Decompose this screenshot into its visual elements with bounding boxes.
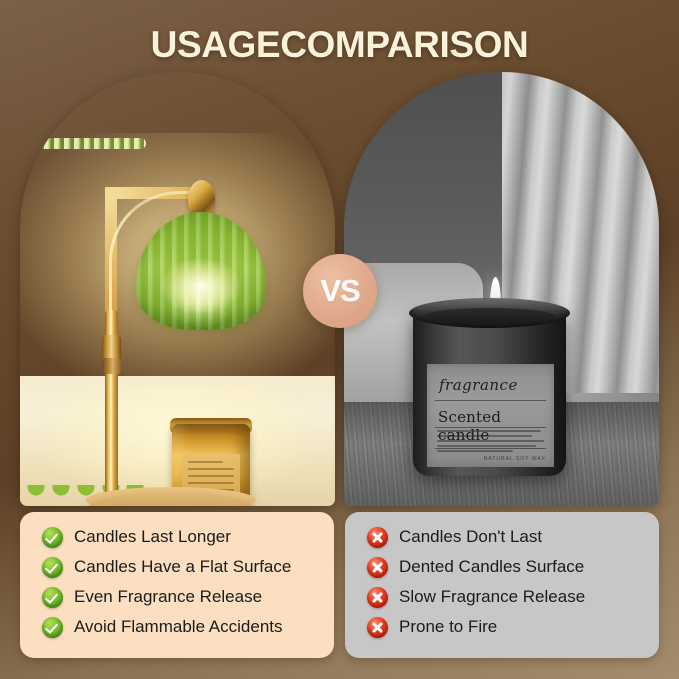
left-product-photo (20, 72, 335, 506)
list-item: Avoid Flammable Accidents (42, 612, 334, 642)
check-circle-icon (42, 557, 63, 578)
check-circle-icon (42, 527, 63, 548)
list-item: Candles Don't Last (367, 522, 659, 552)
candle-label: fragrance Scented candle NATURAL SOY WAX (427, 364, 554, 467)
cons-item-label: Slow Fragrance Release (399, 587, 585, 607)
list-item: Prone to Fire (367, 612, 659, 642)
comparison-infographic: USAGECOMPARISON (0, 0, 679, 679)
lamp-collar-lower (102, 358, 121, 374)
versus-badge: VS (303, 254, 377, 328)
label-rule-bottom (435, 448, 546, 449)
pros-item-label: Even Fragrance Release (74, 587, 262, 607)
label-rule-mid (435, 427, 546, 428)
list-item: Candles Have a Flat Surface (42, 552, 334, 582)
shade-beaded-band (24, 138, 146, 149)
pros-panel: Candles Last Longer Candles Have a Flat … (20, 512, 334, 658)
cross-circle-icon (367, 527, 388, 548)
candle-wax-surface (424, 308, 555, 324)
cross-circle-icon (367, 557, 388, 578)
cons-item-label: Prone to Fire (399, 617, 497, 637)
right-photo-scene: fragrance Scented candle NATURAL SOY WAX (344, 72, 659, 506)
pros-item-label: Candles Have a Flat Surface (74, 557, 291, 577)
candle-label-footer: NATURAL SOY WAX (484, 456, 546, 462)
cons-panel: Candles Don't Last Dented Candles Surfac… (345, 512, 659, 658)
pros-item-label: Candles Last Longer (74, 527, 231, 547)
check-circle-icon (42, 587, 63, 608)
pros-item-label: Avoid Flammable Accidents (74, 617, 283, 637)
label-rule-top (435, 400, 546, 401)
candle-label-script: fragrance (439, 376, 518, 394)
cons-item-label: Dented Candles Surface (399, 557, 584, 577)
right-product-photo: fragrance Scented candle NATURAL SOY WAX (344, 72, 659, 506)
list-item: Dented Candles Surface (367, 552, 659, 582)
page-title: USAGECOMPARISON (0, 24, 679, 66)
list-item: Even Fragrance Release (42, 582, 334, 612)
power-cord (20, 502, 130, 506)
check-circle-icon (42, 617, 63, 638)
list-item: Candles Last Longer (42, 522, 334, 552)
bulb-glow (160, 258, 242, 314)
list-item: Slow Fragrance Release (367, 582, 659, 612)
cons-item-label: Candles Don't Last (399, 527, 542, 547)
candle-label-body (437, 430, 545, 455)
cross-circle-icon (367, 587, 388, 608)
cross-circle-icon (367, 617, 388, 638)
versus-label: VS (320, 273, 359, 309)
left-photo-scene (20, 72, 335, 506)
